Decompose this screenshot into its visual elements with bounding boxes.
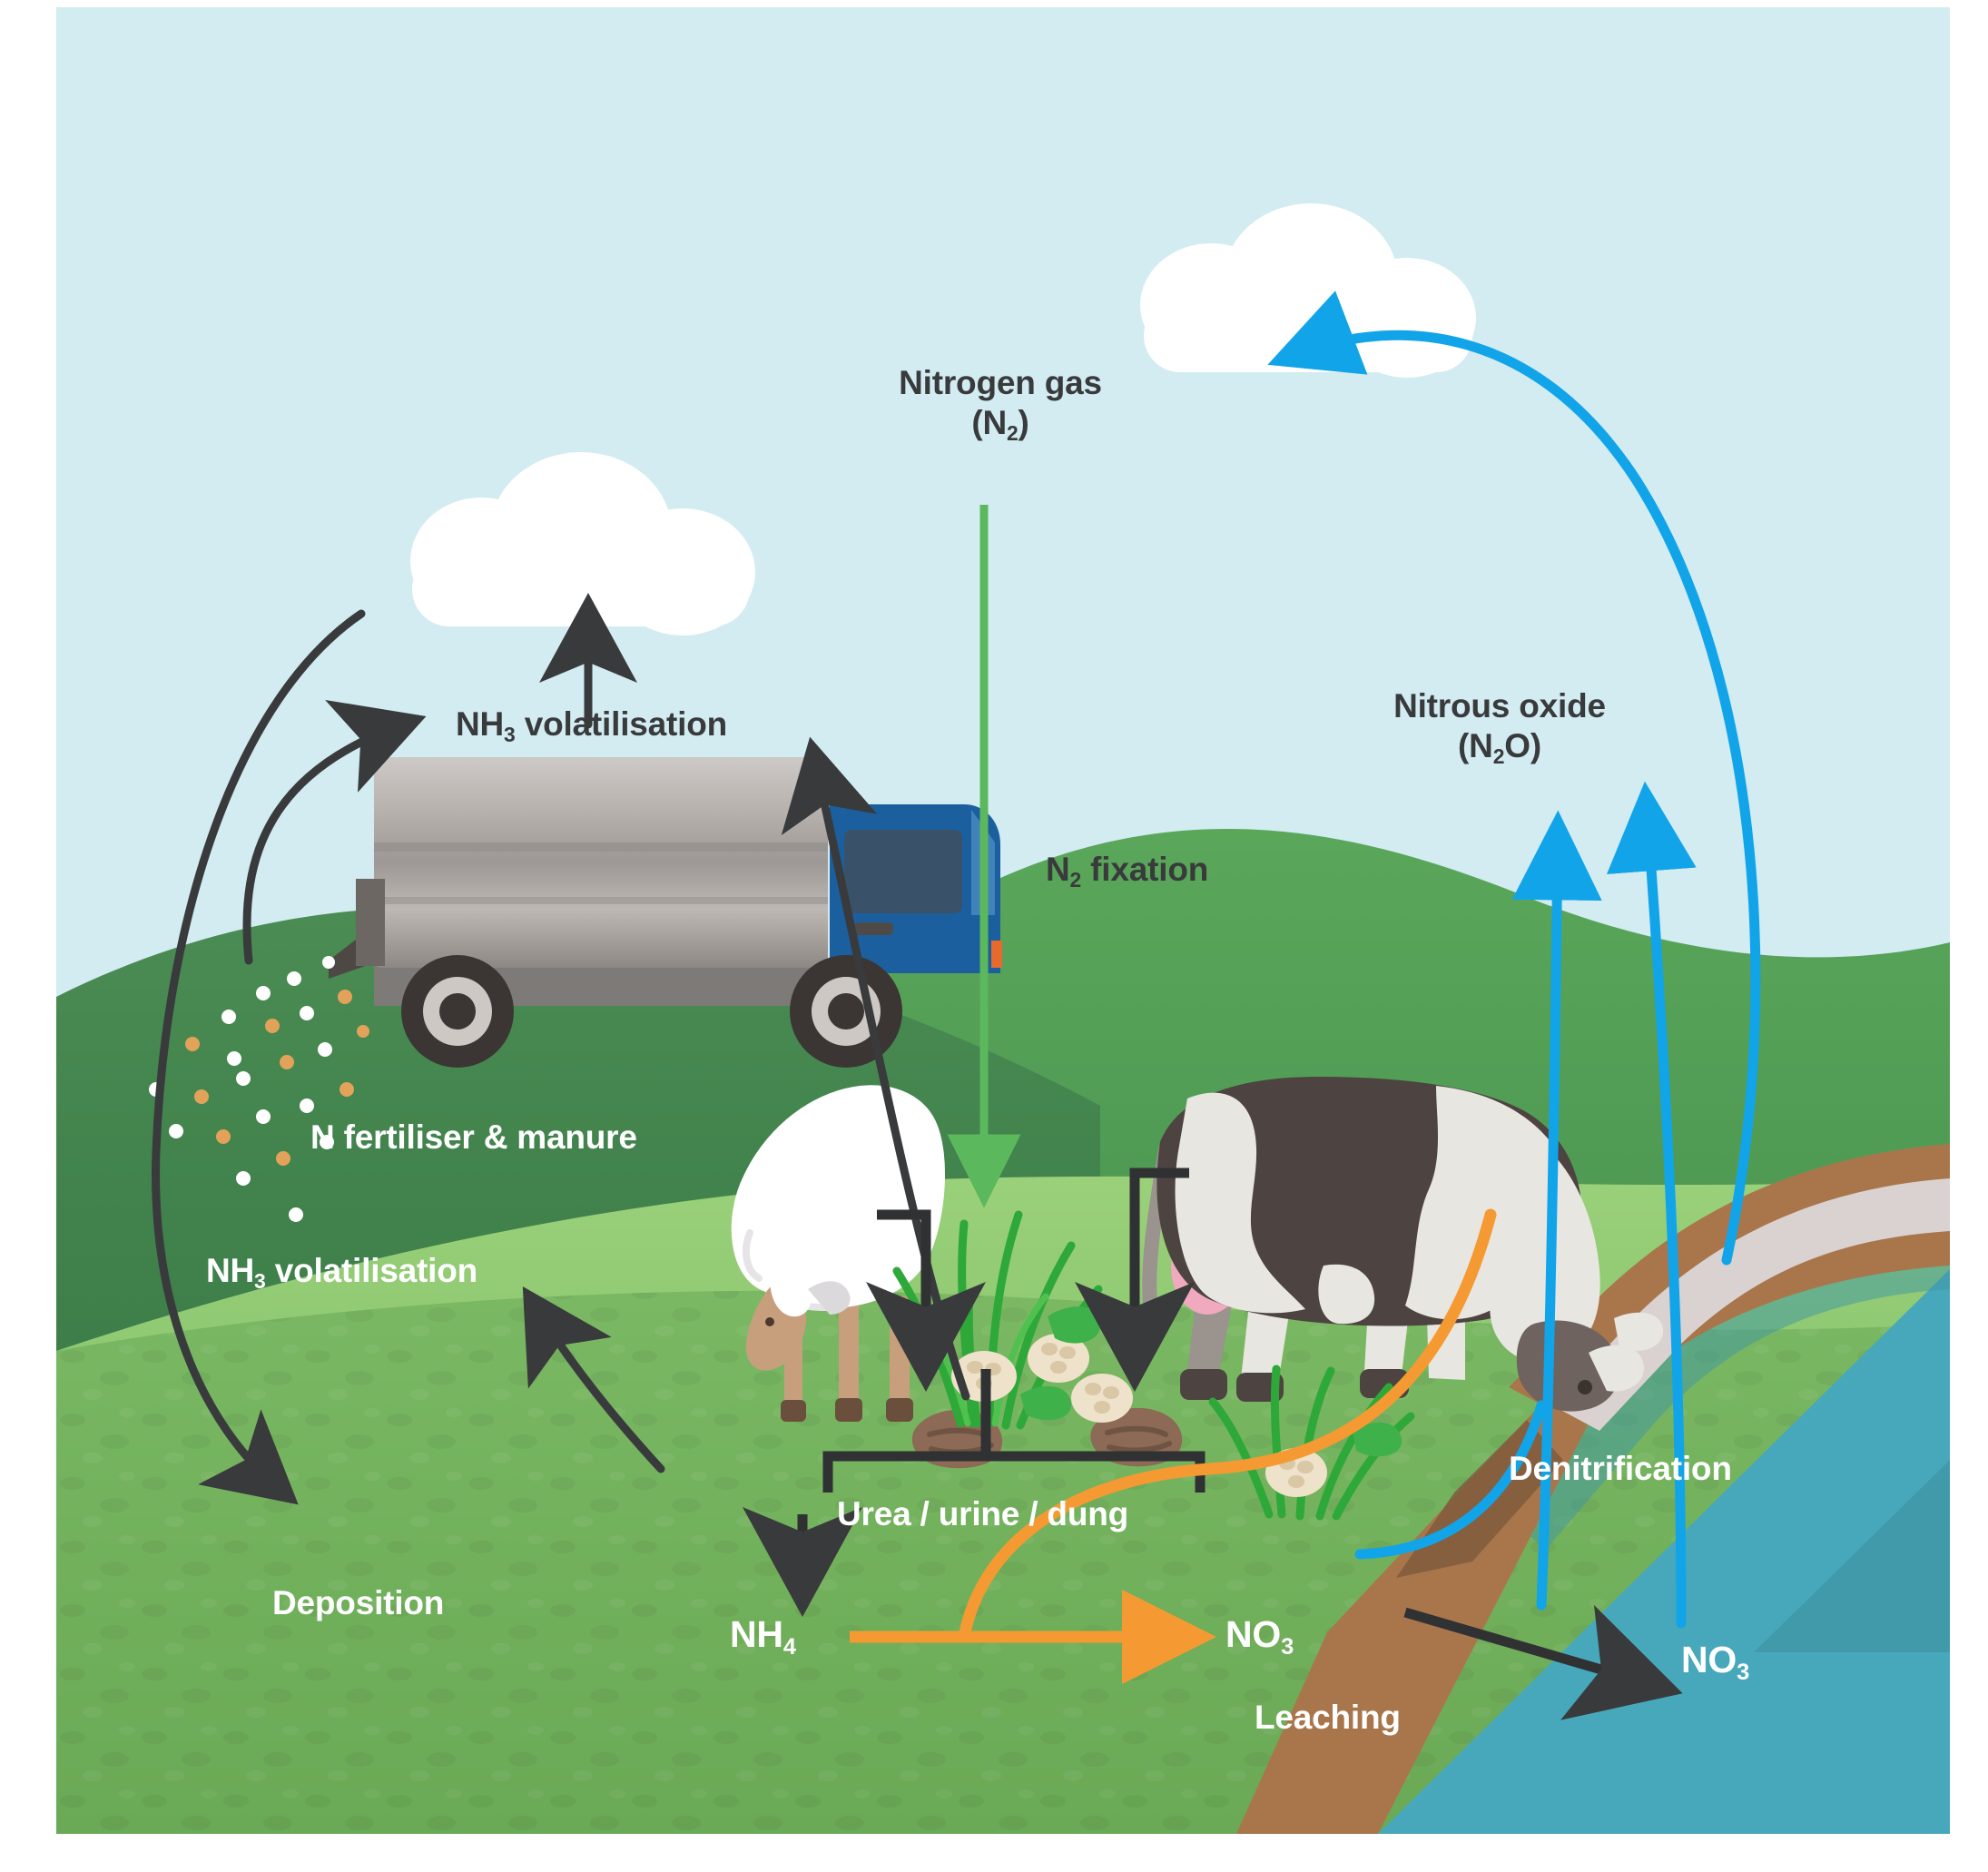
label-denitrification: Denitrification bbox=[1509, 1449, 1732, 1489]
label-n-fertiliser-manure: N fertiliser & manure bbox=[310, 1118, 637, 1158]
label-nh3-volatilisation-upper: NH3 volatilisation bbox=[456, 704, 727, 744]
label-nh3-volatilisation-lower: NH3 volatilisation bbox=[206, 1251, 477, 1291]
diagram-canvas: Nitrogen cycle bbox=[0, 0, 1988, 1872]
label-n2-fixation: N2 fixation bbox=[1046, 850, 1208, 890]
label-no3-soil: NO3 bbox=[1225, 1612, 1294, 1656]
label-nh4: NH4 bbox=[730, 1612, 796, 1656]
clover-flower bbox=[1071, 1374, 1133, 1423]
landscape-layer bbox=[56, 7, 1950, 1834]
truck-wheel-front bbox=[790, 955, 902, 1068]
label-deposition: Deposition bbox=[272, 1583, 444, 1623]
label-nitrous-oxide: Nitrous oxide (N2O) bbox=[1345, 686, 1654, 765]
label-urea-urine-dung: Urea / urine / dung bbox=[837, 1494, 1128, 1534]
illustration-scene: Nitrogen gas (N2) Nitrous oxide (N2O) N2… bbox=[56, 7, 1950, 1834]
label-nitrogen-gas: Nitrogen gas (N2) bbox=[855, 363, 1146, 442]
truck-wheel-rear bbox=[401, 955, 514, 1068]
label-leaching: Leaching bbox=[1255, 1698, 1401, 1738]
label-no3-river: NO3 bbox=[1681, 1638, 1749, 1681]
